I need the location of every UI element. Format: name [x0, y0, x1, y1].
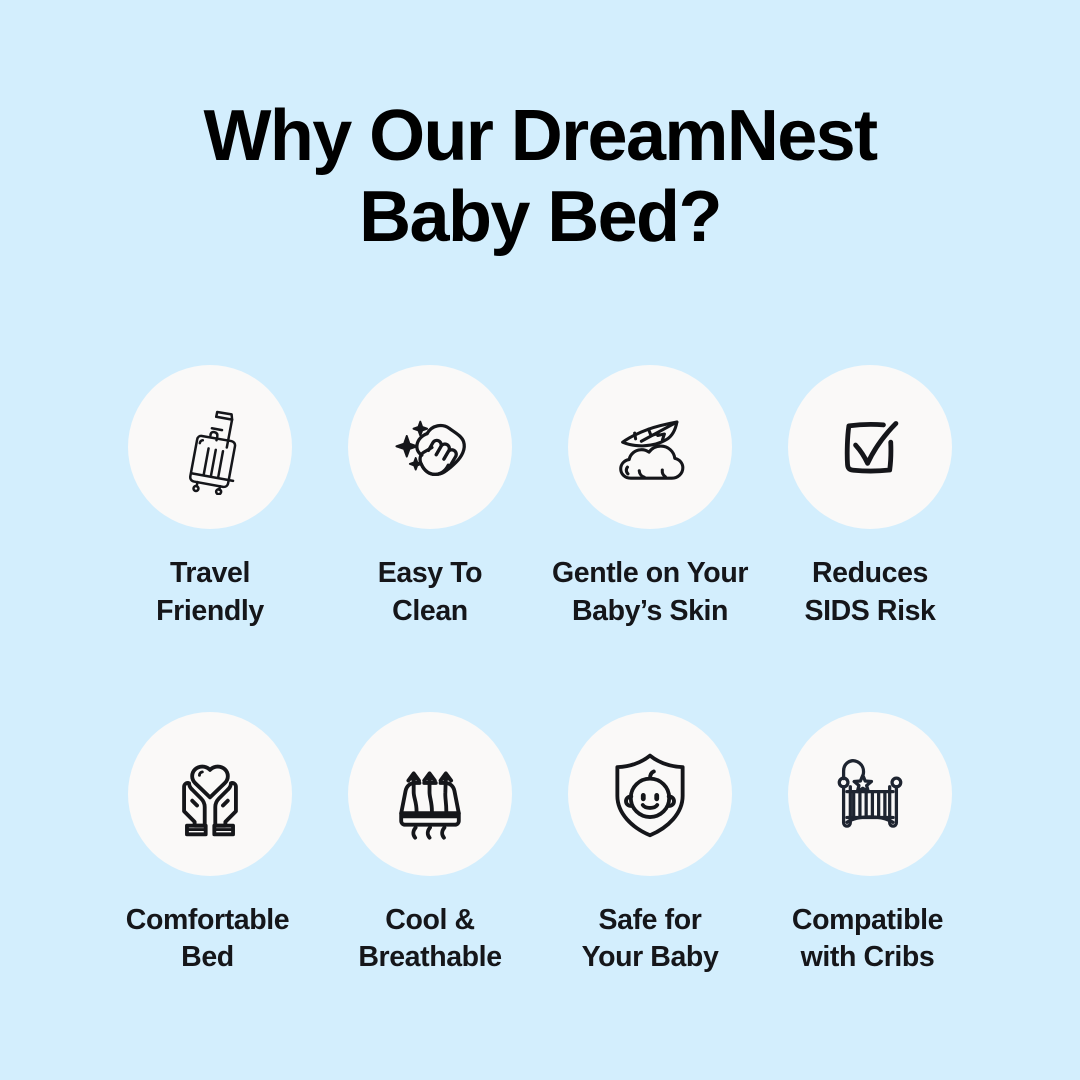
icon-badge [348, 365, 512, 529]
feature-item-travel-friendly: Travel Friendly [100, 365, 320, 629]
feature-item-reduces-sids-risk: Reduces SIDS Risk [760, 365, 980, 629]
mattress-airflow-icon [382, 746, 478, 842]
feature-label: Reduces SIDS Risk [804, 555, 935, 629]
crib-star-mobile-icon [822, 746, 918, 842]
page-title: Why Our DreamNest Baby Bed? [100, 96, 980, 257]
feature-item-safe-for-baby: Safe for Your Baby [540, 712, 760, 976]
suitcase-icon [162, 399, 258, 495]
icon-badge [128, 365, 292, 529]
hands-holding-heart-icon [162, 746, 258, 842]
icon-badge [568, 365, 732, 529]
promo-poster: Why Our DreamNest Baby Bed? [0, 0, 1080, 1080]
feature-label: Easy To Clean [378, 555, 482, 629]
feature-item-comfortable-bed: Comfortable Bed [100, 712, 320, 976]
icon-badge [128, 712, 292, 876]
hand-wiping-sparkle-icon [382, 399, 478, 495]
feature-grid: Travel Friendly [70, 365, 1010, 975]
feature-item-gentle-on-skin: Gentle on Your Baby’s Skin [540, 365, 760, 629]
icon-badge [348, 712, 512, 876]
feature-item-cool-breathable: Cool & Breathable [320, 712, 540, 976]
icon-badge [568, 712, 732, 876]
icon-badge [788, 712, 952, 876]
feature-label: Cool & Breathable [358, 902, 501, 976]
shield-baby-icon [602, 746, 698, 842]
checkbox-check-icon [822, 399, 918, 495]
feature-label: Travel Friendly [156, 555, 264, 629]
feature-item-easy-to-clean: Easy To Clean [320, 365, 540, 629]
feature-label: Comfortable Bed [93, 902, 323, 976]
feather-cloud-icon [602, 399, 698, 495]
feature-label: Compatible with Cribs [753, 902, 983, 976]
feature-label: Gentle on Your Baby’s Skin [552, 555, 748, 629]
icon-badge [788, 365, 952, 529]
feature-item-compatible-with-cribs: Compatible with Cribs [760, 712, 980, 976]
feature-label: Safe for Your Baby [582, 902, 719, 976]
